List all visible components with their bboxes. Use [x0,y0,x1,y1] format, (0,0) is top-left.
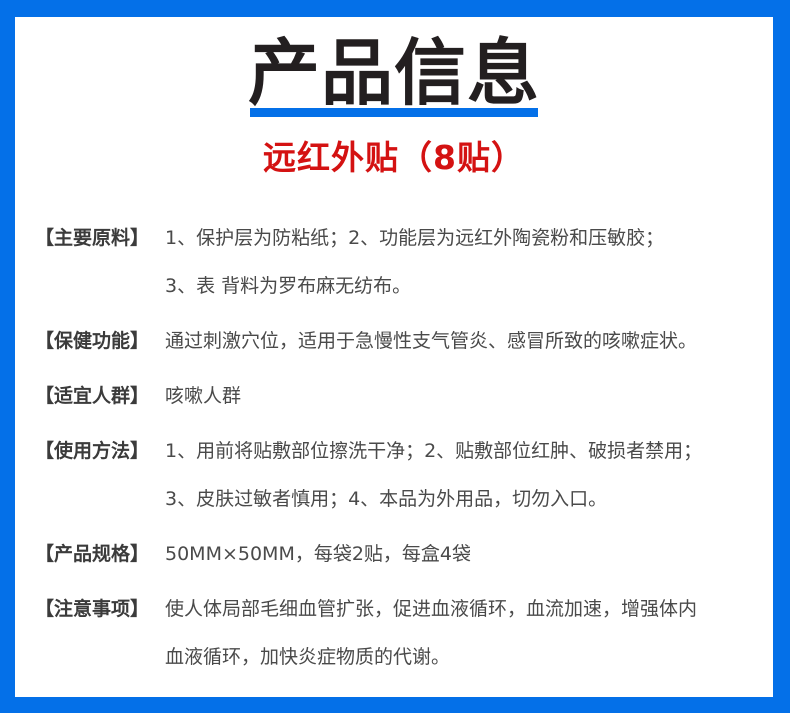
title-block: 产品信息 [248,35,540,113]
info-row-line: 通过刺激穴位，适用于急慢性支气管炎、感冒所致的咳嗽症状。 [165,322,759,360]
info-row: 【主要原料】1、保护层为防粘纸；2、功能层为远红外陶瓷粉和压敏胶；3、表 背料为… [35,219,759,305]
info-row-value: 1、用前将贴敷部位擦洗干净；2、贴敷部位红肿、破损者禁用；3、皮肤过敏者慎用；4… [165,432,759,518]
info-row-label: 【使用方法】 [35,432,165,470]
info-row: 【使用方法】1、用前将贴敷部位擦洗干净；2、贴敷部位红肿、破损者禁用；3、皮肤过… [35,432,759,518]
info-row-value: 通过刺激穴位，适用于急慢性支气管炎、感冒所致的咳嗽症状。 [165,322,759,360]
info-row-label: 【适宜人群】 [35,377,165,415]
info-row-value: 使人体局部毛细血管扩张，促进血液循环，血流加速，增强体内血液循环，加快炎症物质的… [165,590,759,676]
info-row-line: 3、皮肤过敏者慎用；4、本品为外用品，切勿入口。 [165,480,759,518]
info-row-label: 【保健功能】 [35,322,165,360]
info-row: 【适宜人群】咳嗽人群 [35,377,759,415]
info-row-label: 【注意事项】 [35,590,165,628]
info-row-line: 咳嗽人群 [165,377,759,415]
info-row-value: 咳嗽人群 [165,377,759,415]
info-row-label: 【产品规格】 [35,535,165,573]
info-row-line: 3、表 背料为罗布麻无纺布。 [165,267,759,305]
page-title: 产品信息 [248,35,540,113]
info-row-label: 【主要原料】 [35,219,165,257]
info-row-line: 1、用前将贴敷部位擦洗干净；2、贴敷部位红肿、破损者禁用； [165,432,759,470]
info-row-line: 血液循环，加快炎症物质的代谢。 [165,638,759,676]
product-info-list: 【主要原料】1、保护层为防粘纸；2、功能层为远红外陶瓷粉和压敏胶；3、表 背料为… [15,219,773,676]
title-underline-bar [250,108,538,117]
info-row-value: 1、保护层为防粘纸；2、功能层为远红外陶瓷粉和压敏胶；3、表 背料为罗布麻无纺布… [165,219,759,305]
info-row-value: 50MM×50MM，每袋2贴，每盒4袋 [165,535,759,573]
info-row: 【注意事项】使人体局部毛细血管扩张，促进血液循环，血流加速，增强体内血液循环，加… [35,590,759,676]
info-row-line: 使人体局部毛细血管扩张，促进血液循环，血流加速，增强体内 [165,590,759,628]
product-info-page: 产品信息 远红外贴（8贴） 【主要原料】1、保护层为防粘纸；2、功能层为远红外陶… [0,0,790,713]
info-row-line: 1、保护层为防粘纸；2、功能层为远红外陶瓷粉和压敏胶； [165,219,759,257]
info-row-line: 50MM×50MM，每袋2贴，每盒4袋 [165,535,759,573]
content-sheet: 产品信息 远红外贴（8贴） 【主要原料】1、保护层为防粘纸；2、功能层为远红外陶… [15,17,773,697]
info-row: 【保健功能】通过刺激穴位，适用于急慢性支气管炎、感冒所致的咳嗽症状。 [35,322,759,360]
product-subtitle: 远红外贴（8贴） [15,138,773,178]
info-row: 【产品规格】50MM×50MM，每袋2贴，每盒4袋 [35,535,759,573]
page-header: 产品信息 远红外贴（8贴） [15,17,773,177]
